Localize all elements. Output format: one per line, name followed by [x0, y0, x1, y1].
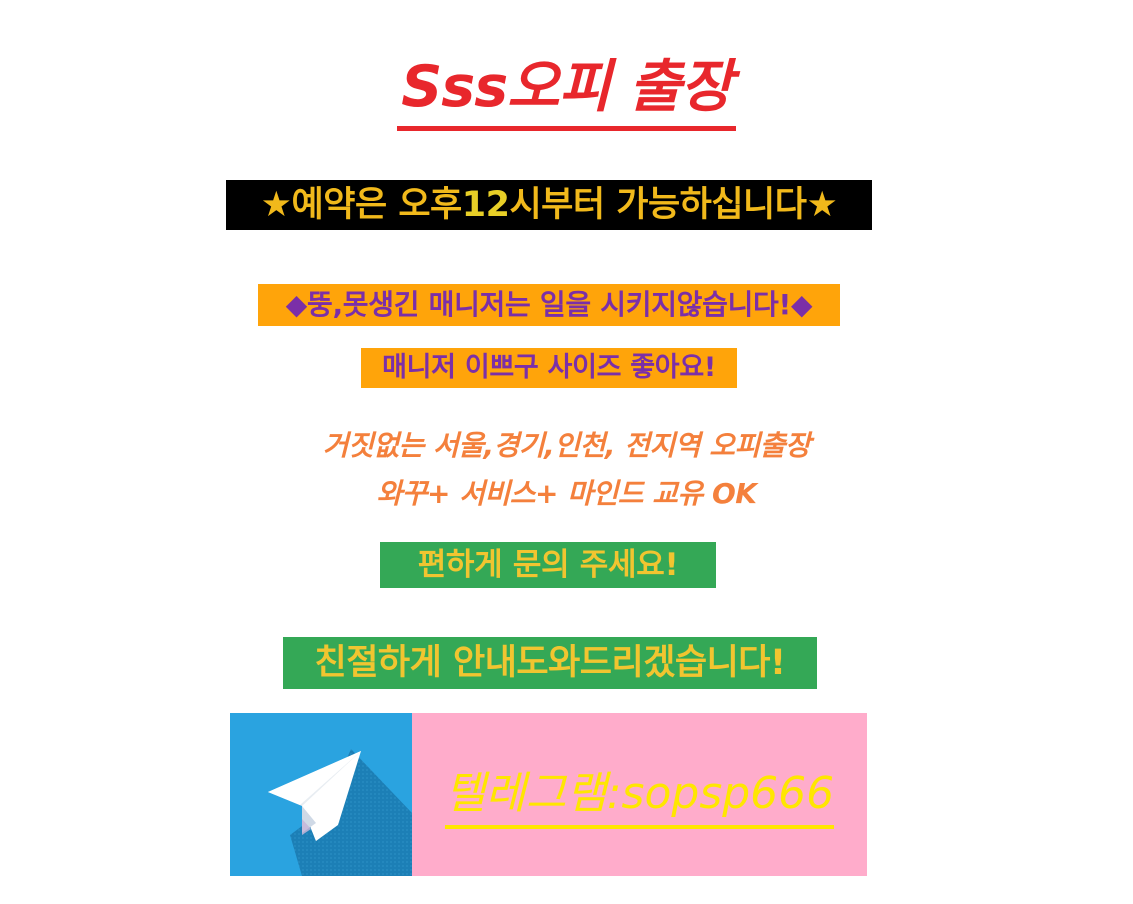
- telegram-handle-link[interactable]: 텔레그램:sopsp666: [445, 757, 834, 829]
- service-area-line: 거짓없는 서울,경기,인천, 전지역 오피출장: [0, 424, 1133, 464]
- page-title-text: Sss오피 출장: [397, 58, 736, 131]
- guidance-banner: 친절하게 안내도와드리겠습니다!: [283, 637, 817, 689]
- telegram-icon-tile: [230, 713, 412, 876]
- page-title: Sss오피 출장: [0, 58, 1133, 131]
- manager-policy-banner: ◆뚱,못생긴 매니저는 일을 시키지않습니다!◆: [258, 284, 840, 326]
- reservation-banner-suffix: 시부터 가능하십니다★: [509, 185, 837, 225]
- reservation-banner: ★예약은 오후12시부터 가능하십니다★: [226, 180, 872, 230]
- telegram-paper-plane-icon: [230, 713, 412, 876]
- service-quality-line: 와꾸+ 서비스+ 마인드 교유 OK: [0, 472, 1133, 512]
- reservation-banner-number: 12: [462, 185, 510, 225]
- contact-handle-panel[interactable]: 텔레그램:sopsp666: [412, 713, 867, 876]
- inquiry-banner: 편하게 문의 주세요!: [380, 542, 716, 588]
- advertisement-page: Sss오피 출장 ★예약은 오후12시부터 가능하십니다★ ◆뚱,못생긴 매니저…: [0, 0, 1133, 904]
- reservation-banner-prefix: ★예약은 오후: [261, 185, 462, 225]
- contact-block[interactable]: 텔레그램:sopsp666: [230, 713, 867, 876]
- manager-quality-banner: 매니저 이쁘구 사이즈 좋아요!: [361, 348, 737, 388]
